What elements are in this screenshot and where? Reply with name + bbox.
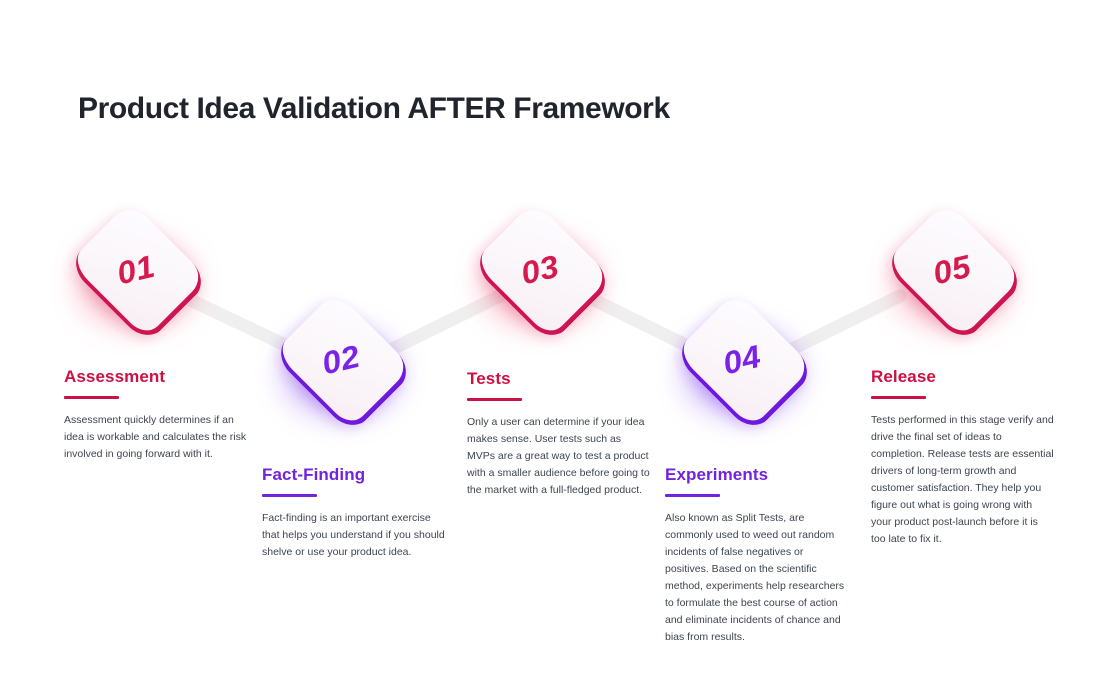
step-text-04: Experiments Also known as Split Tests, a… bbox=[665, 466, 849, 646]
step-heading-05: Release bbox=[871, 368, 1055, 387]
connector-04-05 bbox=[786, 296, 900, 352]
step-text-03: Tests Only a user can determine if your … bbox=[467, 370, 651, 499]
step-body-03: Only a user can determine if your idea m… bbox=[467, 414, 651, 499]
step-heading-04: Experiments bbox=[665, 466, 849, 485]
step-node-05[interactable]: 05 bbox=[898, 216, 1006, 324]
step-heading-01: Assessment bbox=[64, 368, 248, 387]
step-body-01: Assessment quickly determines if an idea… bbox=[64, 412, 248, 463]
step-body-02: Fact-finding is an important exercise th… bbox=[262, 510, 446, 561]
step-body-04: Also known as Split Tests, are commonly … bbox=[665, 510, 849, 646]
infographic-canvas: Product Idea Validation AFTER Framework … bbox=[0, 0, 1100, 688]
node-number-02: 02 bbox=[277, 297, 406, 422]
step-node-03[interactable]: 03 bbox=[486, 216, 594, 324]
step-text-02: Fact-Finding Fact-finding is an importan… bbox=[262, 466, 446, 561]
node-number-04: 04 bbox=[678, 297, 807, 422]
node-number-03: 03 bbox=[476, 207, 605, 332]
step-text-05: Release Tests performed in this stage ve… bbox=[871, 368, 1055, 548]
node-number-01: 01 bbox=[72, 207, 201, 332]
step-text-01: Assessment Assessment quickly determines… bbox=[64, 368, 248, 463]
step-heading-03: Tests bbox=[467, 370, 651, 389]
connector-02-03 bbox=[386, 296, 500, 352]
step-rule-05 bbox=[871, 396, 926, 399]
step-node-01[interactable]: 01 bbox=[82, 216, 190, 324]
step-heading-02: Fact-Finding bbox=[262, 466, 446, 485]
step-body-05: Tests performed in this stage verify and… bbox=[871, 412, 1055, 548]
node-number-05: 05 bbox=[888, 207, 1017, 332]
page-title: Product Idea Validation AFTER Framework bbox=[78, 92, 670, 126]
step-rule-03 bbox=[467, 398, 522, 401]
step-rule-02 bbox=[262, 494, 317, 497]
step-rule-04 bbox=[665, 494, 720, 497]
step-node-02[interactable]: 02 bbox=[287, 306, 395, 414]
step-rule-01 bbox=[64, 396, 119, 399]
step-node-04[interactable]: 04 bbox=[688, 306, 796, 414]
